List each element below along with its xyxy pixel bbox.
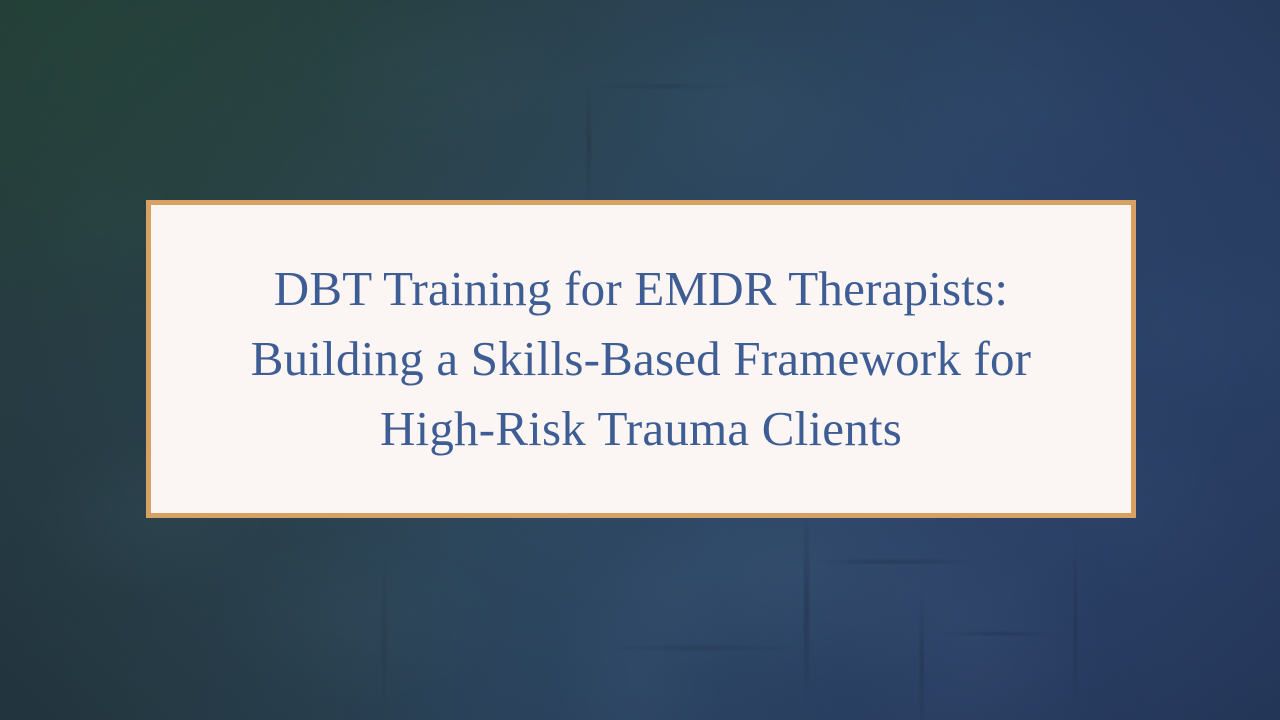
slide-title: DBT Training for EMDR Therapists: Buildi… — [217, 254, 1065, 464]
title-card: DBT Training for EMDR Therapists: Buildi… — [146, 200, 1136, 518]
title-slide: DBT Training for EMDR Therapists: Buildi… — [0, 0, 1280, 720]
